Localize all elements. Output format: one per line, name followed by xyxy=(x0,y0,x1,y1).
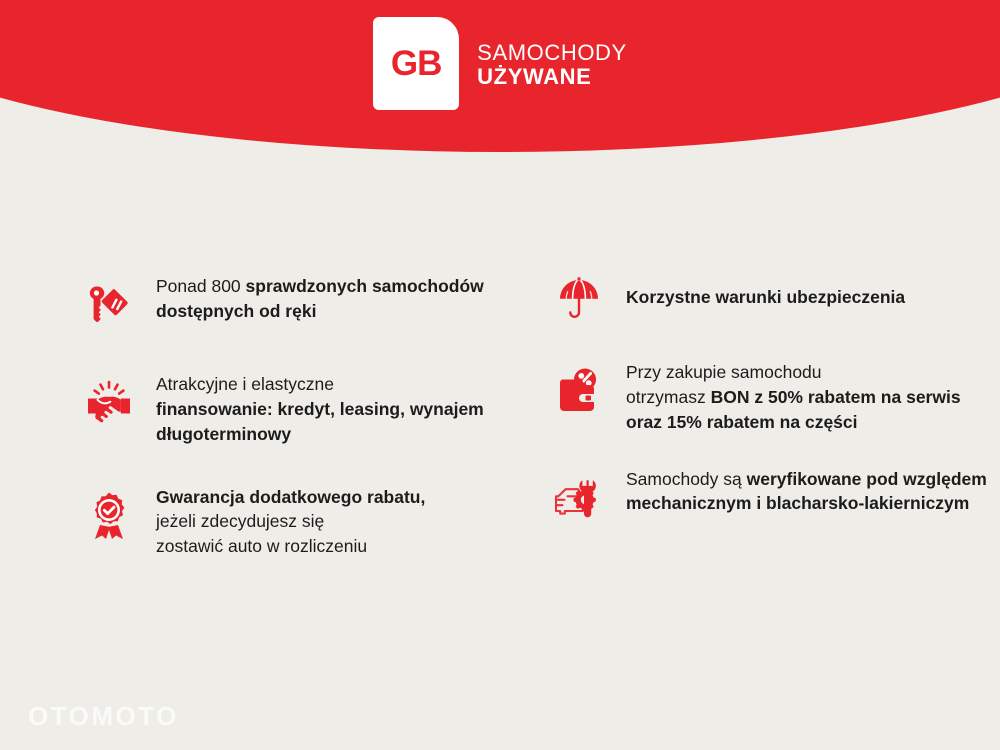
promo-banner: GB SAMOCHODY UŻYWANE xyxy=(0,0,1000,750)
gb-logo-mark-icon: GB xyxy=(373,17,459,110)
feature-text-financing: Atrakcyjne i elastycznefinansowanie: kre… xyxy=(156,370,526,447)
header-logo-area: GB SAMOCHODY UŻYWANE xyxy=(0,0,1000,155)
umbrella-icon xyxy=(550,270,608,328)
features-column-left: Ponad 800 sprawdzonych samochodów dostęp… xyxy=(80,272,530,595)
feature-text-service-voucher: Przy zakupie samochoduotrzymasz BON z 50… xyxy=(626,358,996,435)
feature-item-financing: Atrakcyjne i elastycznefinansowanie: kre… xyxy=(80,370,530,447)
features-column-right: Korzystne warunki ubezpieczenia xyxy=(550,272,1000,595)
brand-wordmark: SAMOCHODY UŻYWANE xyxy=(477,41,627,89)
feature-text-vehicle-inspection: Samochody są weryfikowane pod względem m… xyxy=(626,465,996,517)
brand-wordmark-line2: UŻYWANE xyxy=(477,65,627,89)
feature-text-insurance: Korzystne warunki ubezpieczenia xyxy=(626,272,905,310)
wallet-percent-icon xyxy=(550,362,608,420)
brand-logo[interactable]: GB SAMOCHODY UŻYWANE xyxy=(373,17,627,110)
brand-wordmark-line1: SAMOCHODY xyxy=(477,41,627,65)
car-wrench-gear-icon xyxy=(550,469,608,527)
gb-logo-text: GB xyxy=(391,46,442,81)
feature-text-discount-guarantee: Gwarancja dodatkowego rabatu,jeżeli zdec… xyxy=(156,483,425,560)
feature-item-service-voucher: Przy zakupie samochoduotrzymasz BON z 50… xyxy=(550,358,1000,435)
features-grid: Ponad 800 sprawdzonych samochodów dostęp… xyxy=(0,272,1000,595)
feature-item-discount-guarantee: Gwarancja dodatkowego rabatu,jeżeli zdec… xyxy=(80,483,530,560)
feature-text-cars-available: Ponad 800 sprawdzonych samochodów dostęp… xyxy=(156,272,526,324)
award-rosette-icon xyxy=(80,487,138,545)
handshake-icon xyxy=(80,374,138,432)
feature-item-cars-available: Ponad 800 sprawdzonych samochodów dostęp… xyxy=(80,272,530,334)
car-key-tag-icon xyxy=(80,276,138,334)
otomoto-watermark: OTOMOTO xyxy=(28,701,179,732)
feature-item-insurance: Korzystne warunki ubezpieczenia xyxy=(550,272,1000,328)
feature-item-vehicle-inspection: Samochody są weryfikowane pod względem m… xyxy=(550,465,1000,527)
